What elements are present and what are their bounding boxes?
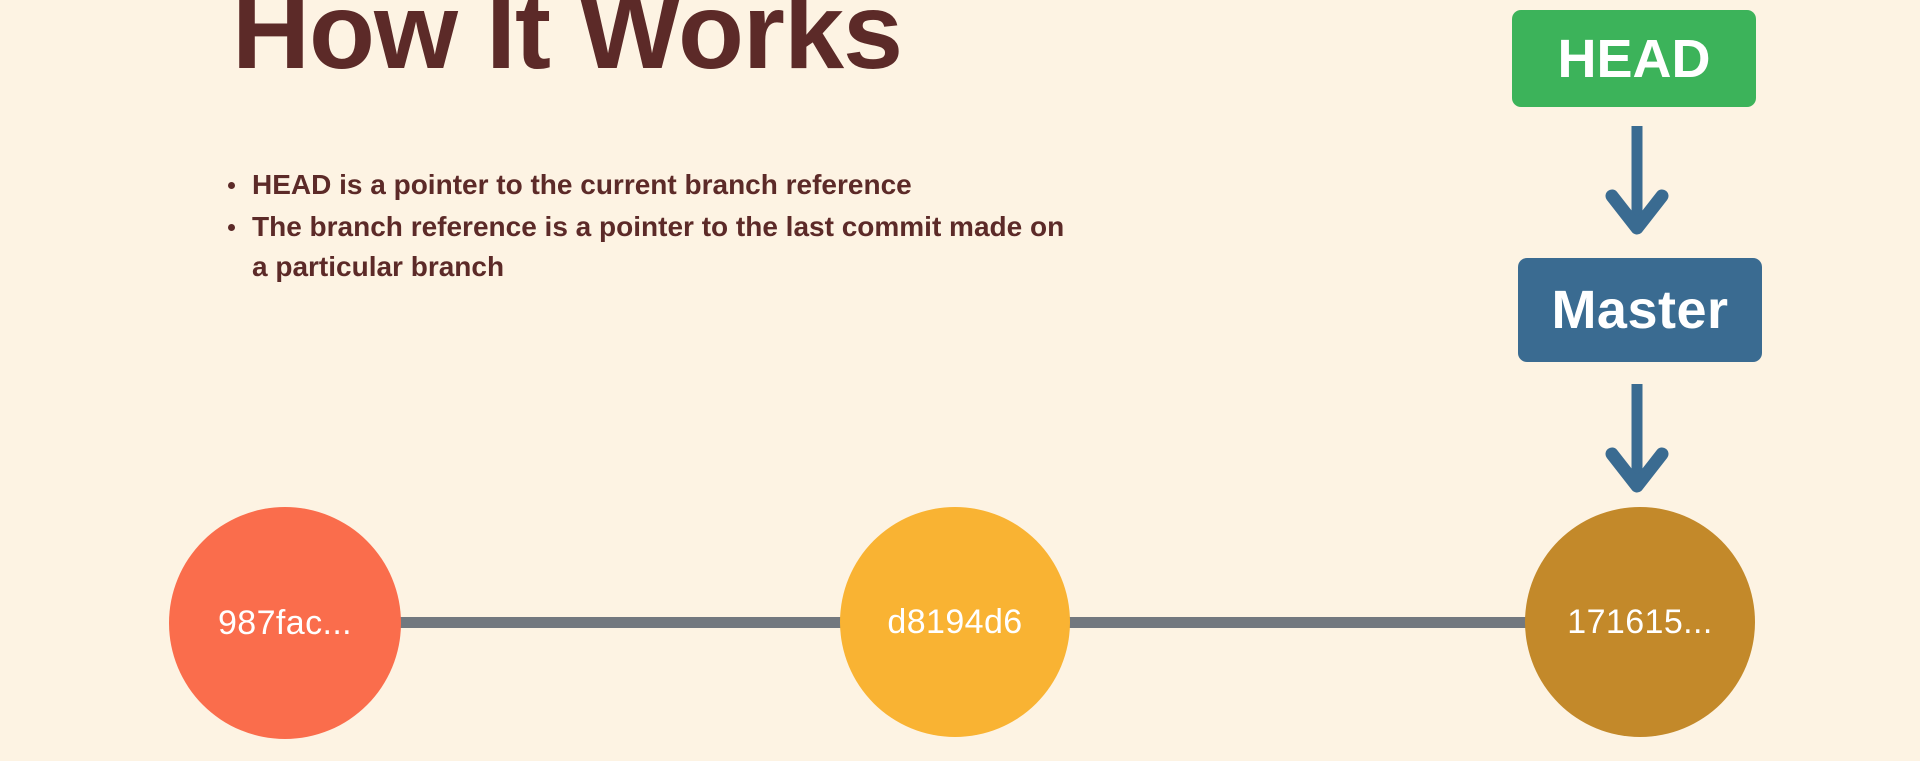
commit-connector-line (390, 617, 850, 628)
commit-connector-line (1060, 617, 1530, 628)
commit-graph: 987fac... d8194d6 171615... (0, 0, 1920, 761)
commit-node: 987fac... (169, 507, 401, 739)
commit-hash-label: 987fac... (218, 604, 352, 643)
commit-hash-label: d8194d6 (887, 603, 1022, 642)
commit-node: d8194d6 (840, 507, 1070, 737)
slide-canvas: How It Works HEAD is a pointer to the cu… (0, 0, 1920, 761)
commit-hash-label: 171615... (1567, 603, 1712, 642)
commit-node: 171615... (1525, 507, 1755, 737)
